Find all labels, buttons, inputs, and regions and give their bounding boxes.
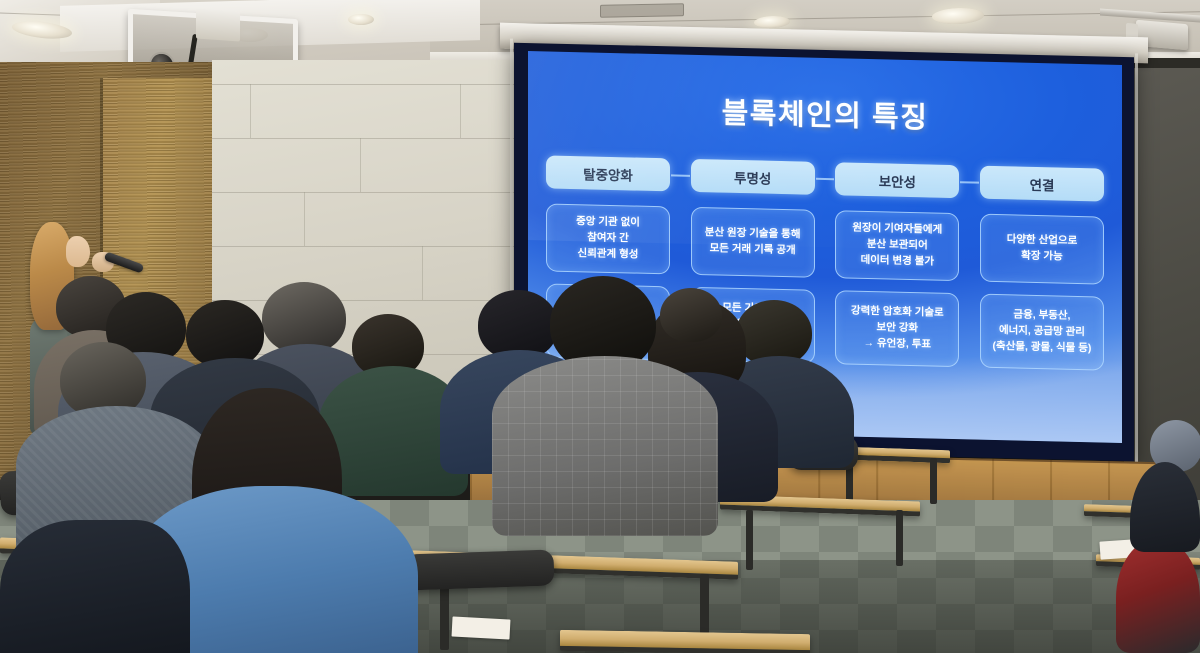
slide-cell-line: 데이터 변경 불가 (852, 253, 942, 271)
audience-body (492, 356, 718, 536)
slide-content-row-1: 중앙 기관 없이참여자 간신뢰관계 형성 분산 원장 기술을 통해모든 거래 기… (546, 203, 1104, 284)
projector-ceiling-mount (196, 8, 240, 41)
slide-cell: 분산 원장 기술을 통해모든 거래 기록 공개 (691, 207, 815, 278)
slide-cell-line: 참여자 간 (576, 230, 640, 247)
slide-cell-line: 신뢰관계 형성 (576, 246, 640, 263)
slide-cell-line: → 유언장, 투표 (851, 336, 944, 354)
slide-cell: 강력한 암호화 기술로보안 강화→ 유언장, 투표 (835, 290, 959, 367)
slide-cell-line: 모든 거래 기록 공개 (705, 241, 801, 259)
slide-cell-line: 강력한 암호화 기술로 (851, 304, 944, 322)
student-desk (560, 630, 810, 653)
conference-chair (403, 549, 554, 590)
slide-cell: 원장이 기여자들에게분산 보관되어데이터 변경 불가 (835, 210, 959, 281)
slide-cell-line: 확장 가능 (1007, 248, 1078, 265)
slide-cell-line: 원장이 기여자들에게 (852, 221, 942, 239)
audience-body (0, 520, 190, 653)
slide-header-box-4: 연결 (980, 166, 1104, 202)
slide-cell-line: 중앙 기관 없이 (576, 215, 640, 232)
desk-leg (930, 458, 937, 504)
lecture-room-scene: 블록체인의 특징 탈중앙화 투명성 보안성 연결 중앙 기관 없이참여자 간신뢰… (0, 0, 1200, 653)
header-connector-line (671, 174, 690, 176)
slide-cell: 금융, 부동산,에너지, 공급망 관리(축산물, 광물, 식물 등) (980, 294, 1104, 371)
header-connector-line (816, 177, 835, 179)
slide-header-box-1: 탈중앙화 (546, 155, 670, 191)
audience-head (660, 288, 722, 342)
slide-cell: 중앙 기관 없이참여자 간신뢰관계 형성 (546, 203, 670, 274)
slide-header-row: 탈중앙화 투명성 보안성 연결 (546, 155, 1104, 201)
slide-header-box-2: 투명성 (691, 159, 815, 195)
slide-cell: 다양한 산업으로확장 가능 (980, 214, 1104, 285)
slide-cell-line: (축산물, 광물, 식물 등) (993, 339, 1092, 357)
handout-paper (452, 616, 511, 639)
ceiling-light (348, 14, 374, 25)
presenter-face (66, 236, 90, 267)
audience-body (1116, 538, 1200, 653)
slide-cell-line: 다양한 산업으로 (1007, 233, 1078, 250)
desk-leg (746, 510, 753, 570)
desk-leg (896, 510, 903, 566)
slide-title: 블록체인의 특징 (528, 85, 1122, 141)
ceiling-vent (600, 3, 684, 17)
slide-header-box-3: 보안성 (835, 162, 959, 198)
header-connector-line (960, 181, 979, 183)
